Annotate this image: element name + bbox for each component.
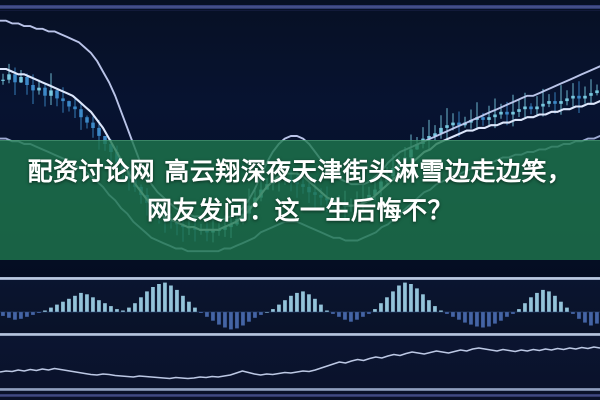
headline-text: 配资讨论网 高云翔深夜天津街头淋雪边走边笑， 网友发问：这一生后悔不？ bbox=[0, 152, 600, 230]
screenshot-stage: 配资讨论网 高云翔深夜天津街头淋雪边走边笑， 网友发问：这一生后悔不？ bbox=[0, 0, 600, 400]
headline-line-1: 配资讨论网 高云翔深夜天津街头淋雪边走边笑， bbox=[0, 152, 600, 191]
macd-bars-group bbox=[0, 283, 600, 330]
headline-line-2: 网友发问：这一生后悔不？ bbox=[0, 191, 600, 230]
oscillator-line-group bbox=[0, 347, 600, 379]
green-overlay-top-edge bbox=[0, 140, 600, 141]
